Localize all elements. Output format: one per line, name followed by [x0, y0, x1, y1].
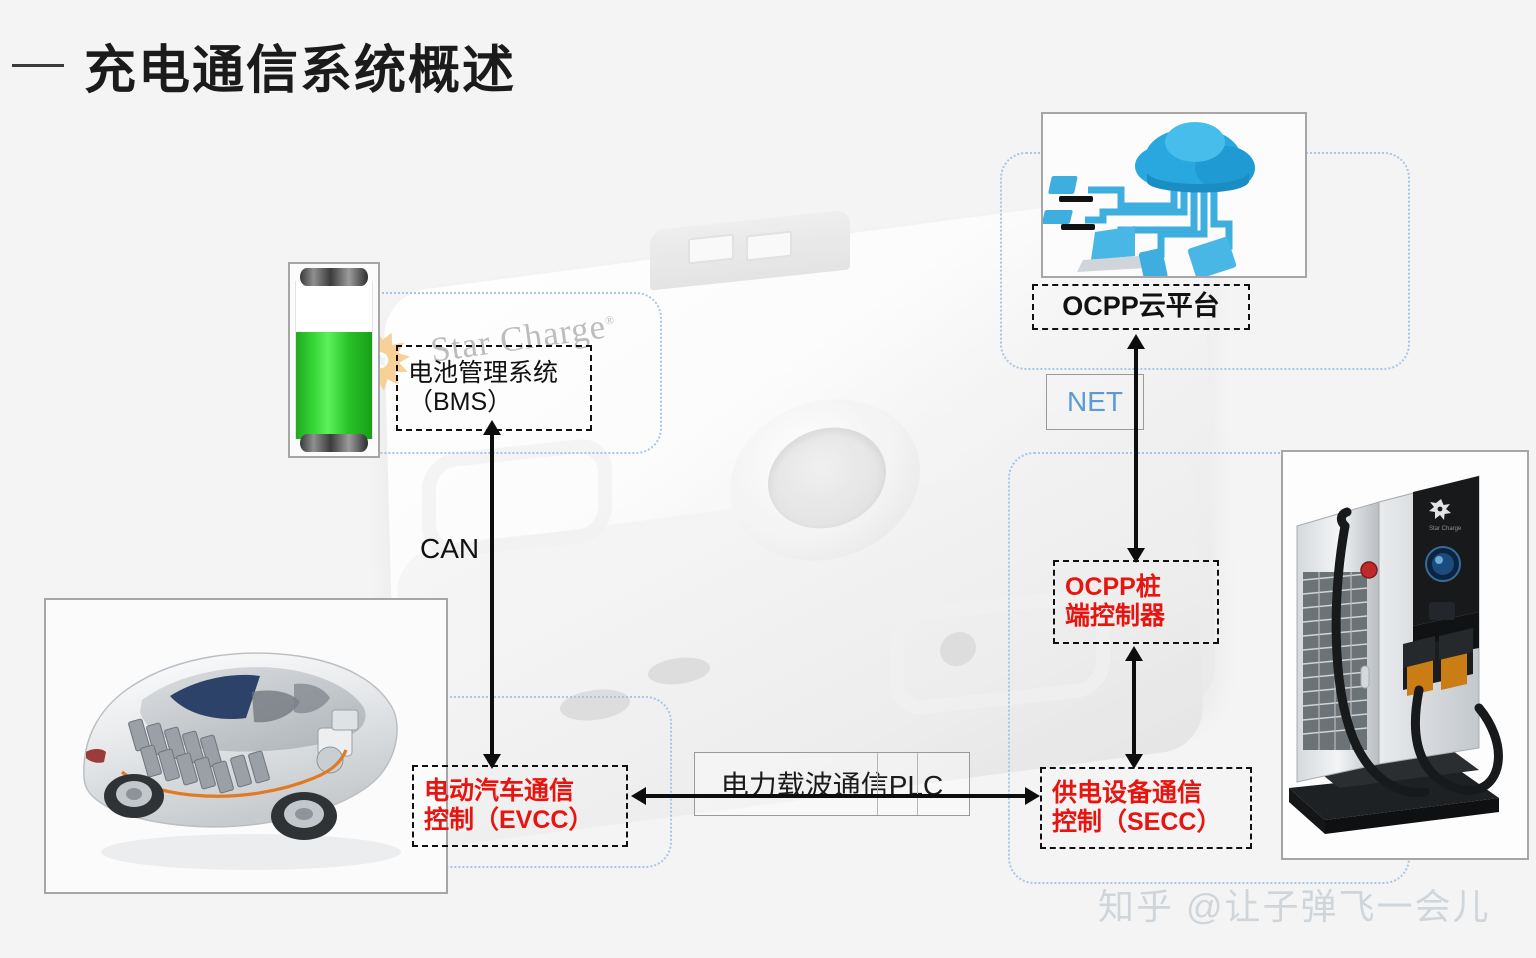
node-evcc[interactable]: 电动汽车通信 控制（EVCC） [412, 765, 628, 847]
battery-photo-frame [288, 262, 380, 458]
arrow-plc-head-left [631, 787, 646, 805]
electric-vehicle-cutaway-icon [46, 600, 448, 894]
dc-fast-charger-icon: Star Charge [1283, 452, 1529, 860]
charger-photo-frame: Star Charge [1281, 450, 1529, 860]
page-title: 充电通信系统概述 [84, 28, 516, 103]
arrow-can-head-down [483, 754, 501, 769]
plc-divider-1 [877, 753, 878, 815]
cloud-network-photo-frame [1041, 112, 1307, 278]
arrow-plc-line [645, 794, 1027, 798]
charger-top-tab [650, 209, 850, 290]
battery-charge-fill [296, 332, 372, 439]
link-label-net: NET [1046, 374, 1144, 430]
arrow-net-head-up [1127, 334, 1145, 349]
charger-slot-right [746, 231, 792, 262]
charger-knob-inner [768, 422, 886, 534]
battery-cap-top [300, 268, 368, 286]
svg-text:Star Charge: Star Charge [1429, 526, 1462, 532]
title-rule [12, 64, 64, 67]
charger-detail-dot-b [940, 630, 976, 668]
arrow-can-line [490, 432, 494, 764]
cloud-network-icon [1043, 114, 1307, 278]
arrow-secc-controller-line [1132, 658, 1136, 764]
arrow-net-line [1134, 346, 1138, 558]
node-ocpp-cloud-platform[interactable]: OCPP云平台 [1032, 284, 1250, 330]
charger-detail-dot-a [648, 655, 710, 688]
link-label-can: CAN [420, 533, 479, 565]
watermark: 知乎 @让子弹飞一会儿 [1098, 878, 1491, 930]
arrow-can-head-up [483, 420, 501, 435]
node-secc[interactable]: 供电设备通信 控制（SECC） [1040, 767, 1252, 849]
vehicle-photo-frame [44, 598, 448, 894]
arrow-plc-head-right [1025, 787, 1040, 805]
link-label-plc-text: 电力载波通信PLC [721, 764, 943, 804]
arrow-secc-controller-head-down [1125, 754, 1143, 769]
charger-knob-outer [730, 390, 920, 570]
plc-divider-2 [917, 753, 918, 815]
link-label-plc-box: 电力载波通信PLC [694, 752, 970, 816]
arrow-net-head-down [1127, 548, 1145, 563]
charger-slot-left [688, 234, 734, 265]
battery-cap-bottom [300, 434, 368, 452]
slide-canvas: Star Charge® 充电通信系统概述 [0, 0, 1536, 958]
arrow-secc-controller-head-up [1125, 646, 1143, 661]
battery-body [295, 281, 373, 439]
node-bms[interactable]: 电池管理系统 （BMS） [396, 345, 592, 431]
node-ocpp-controller[interactable]: OCPP桩 端控制器 [1053, 560, 1219, 644]
